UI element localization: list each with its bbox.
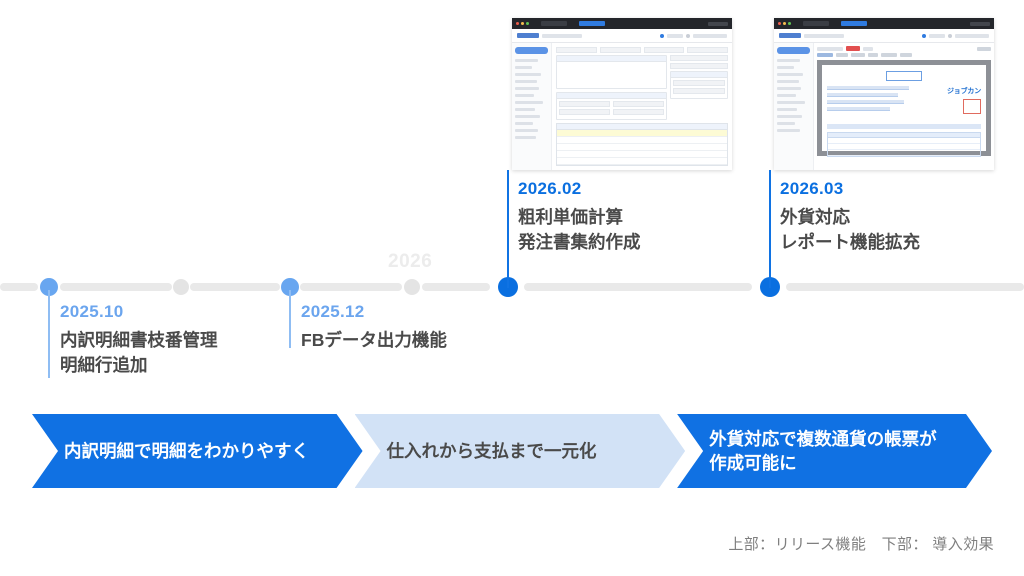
download-icon[interactable] <box>977 47 991 51</box>
form-field[interactable] <box>559 109 610 115</box>
browser-toolbar <box>708 22 728 26</box>
timeline-entry-date: 2026.03 <box>780 180 1020 199</box>
preview-area: ジョブカン <box>814 43 994 170</box>
line-items-table[interactable] <box>556 123 728 166</box>
table-row[interactable] <box>557 158 727 165</box>
benefit-chevron-2[interactable]: 仕入れから支払まで一元化 <box>355 414 686 488</box>
timeline-entry-title: 内訳明細書枝番管理 明細行追加 <box>60 328 310 378</box>
screenshot-order-entry-form[interactable] <box>512 18 732 170</box>
timeline-entry-2026-03[interactable]: 2026.03 外貨対応 レポート機能拡充 <box>780 180 1020 254</box>
footer-legend: 上部：リリース機能 下部： 導入効果 <box>728 533 994 554</box>
help-icon[interactable] <box>660 34 664 38</box>
benefit-label: 仕入れから支払まで一元化 <box>387 439 597 464</box>
preview-title <box>817 47 843 51</box>
axis-segment <box>60 283 172 291</box>
benefit-chevron-1[interactable]: 内訳明細で明細をわかりやすく <box>32 414 363 488</box>
axis-segment <box>524 283 752 291</box>
sidebar-item[interactable] <box>777 108 797 111</box>
browser-titlebar <box>774 18 994 29</box>
form-field[interactable] <box>687 47 728 53</box>
minimize-icon[interactable] <box>783 22 786 25</box>
timeline-entry-date: 2026.02 <box>518 180 758 199</box>
timeline-year-label: 2026 <box>388 251 432 273</box>
sidebar-item[interactable] <box>515 129 538 132</box>
preview-tab[interactable] <box>881 53 897 57</box>
form-toolbar <box>556 47 728 55</box>
sidebar-item[interactable] <box>777 129 800 132</box>
sidebar-item[interactable] <box>515 122 533 125</box>
axis-segment <box>0 283 38 291</box>
form-side-column <box>670 55 728 123</box>
preview-tab[interactable] <box>851 53 865 57</box>
summary-panel <box>670 71 728 99</box>
invoice-field <box>827 93 898 97</box>
sidebar-item[interactable] <box>777 94 796 97</box>
invoice-recipient-block <box>827 86 916 119</box>
panel-body <box>671 78 727 98</box>
table-row[interactable] <box>557 151 727 158</box>
table-row[interactable] <box>557 130 727 137</box>
sidebar-item[interactable] <box>777 80 799 83</box>
timeline-entry-title: 粗利単価計算 発注書集約作成 <box>518 205 758 255</box>
panel-body <box>557 99 666 119</box>
detail-panel <box>556 92 667 120</box>
benefit-label: 外貨対応で複数通貨の帳票が 作成可能に <box>709 427 937 476</box>
sidebar-item[interactable] <box>777 66 794 69</box>
status-badge <box>846 46 860 51</box>
sidebar-item[interactable] <box>777 122 795 125</box>
form-field[interactable] <box>670 63 728 69</box>
slide-canvas: 2026 2025.10 内訳明細書枝番管理 明細行追加 2025.12 FBデ… <box>0 0 1024 576</box>
form-field[interactable] <box>613 101 664 107</box>
invoice-header-columns: ジョブカン <box>827 86 981 119</box>
preview-tab[interactable] <box>900 53 912 57</box>
app-header <box>774 29 994 43</box>
maximize-icon[interactable] <box>788 22 791 25</box>
account-label <box>955 34 989 38</box>
stem-2026-02 <box>507 170 509 288</box>
sidebar-item[interactable] <box>515 73 541 76</box>
sidebar-item[interactable] <box>515 108 535 111</box>
sidebar-item[interactable] <box>515 80 537 83</box>
app-title-placeholder <box>804 34 844 38</box>
timeline-entry-2025-10[interactable]: 2025.10 内訳明細書枝番管理 明細行追加 <box>60 303 310 377</box>
app-header-actions <box>660 34 727 38</box>
form-field[interactable] <box>559 101 610 107</box>
app-header <box>512 29 732 43</box>
minimize-icon[interactable] <box>521 22 524 25</box>
sidebar-item[interactable] <box>777 115 802 118</box>
axis-segment <box>786 283 1024 291</box>
browser-tab-active[interactable] <box>841 21 867 26</box>
sidebar-item[interactable] <box>515 59 538 62</box>
form-field[interactable] <box>600 47 641 53</box>
sidebar-item[interactable] <box>515 94 534 97</box>
jobcan-logo-icon <box>779 33 801 38</box>
benefit-chevron-3[interactable]: 外貨対応で複数通貨の帳票が 作成可能に <box>677 414 992 488</box>
app-header-actions <box>922 34 989 38</box>
browser-titlebar <box>512 18 732 29</box>
sidebar-item[interactable] <box>515 66 532 69</box>
invoice-items-table <box>827 132 981 157</box>
timeline-entry-2025-12[interactable]: 2025.12 FBデータ出力機能 <box>301 303 531 353</box>
sidebar-primary-button[interactable] <box>777 47 810 54</box>
preview-meta <box>863 47 873 51</box>
preview-tab[interactable] <box>836 53 848 57</box>
invoice-field <box>827 107 890 111</box>
timeline-axis <box>0 283 1024 291</box>
document-stage: ジョブカン <box>817 60 991 156</box>
help-label <box>667 34 683 38</box>
preview-tab[interactable] <box>817 53 833 57</box>
preview-toolbar <box>817 46 991 51</box>
timeline-dot-idle-1 <box>173 279 189 295</box>
sidebar-primary-button[interactable] <box>515 47 548 54</box>
timeline-entry-title: 外貨対応 レポート機能拡充 <box>780 205 1020 255</box>
invoice-field <box>827 86 909 90</box>
jobcan-logo-text: ジョブカン <box>929 86 981 96</box>
gear-icon[interactable] <box>948 34 952 38</box>
table-row[interactable] <box>557 137 727 144</box>
axis-segment <box>190 283 280 291</box>
sidebar-item[interactable] <box>515 115 540 118</box>
form-area <box>552 43 732 170</box>
form-field[interactable] <box>556 47 597 53</box>
summary-value <box>673 80 725 86</box>
browser-tab[interactable] <box>803 21 829 26</box>
maximize-icon[interactable] <box>526 22 529 25</box>
panel-body[interactable] <box>557 62 666 88</box>
table-row <box>828 150 980 156</box>
form-field[interactable] <box>644 47 685 53</box>
app-sidebar[interactable] <box>512 43 552 170</box>
sidebar-item[interactable] <box>777 87 801 90</box>
sidebar-item[interactable] <box>515 101 543 104</box>
stem-2025-10 <box>48 290 50 378</box>
invoice-total-row <box>827 124 981 129</box>
timeline-entry-date: 2025.12 <box>301 303 531 322</box>
close-icon[interactable] <box>516 22 519 25</box>
browser-tab-active[interactable] <box>579 21 605 26</box>
summary-value <box>673 88 725 94</box>
form-field[interactable] <box>670 55 728 61</box>
invoice-issuer-block: ジョブカン <box>929 86 981 119</box>
sidebar-item[interactable] <box>777 101 805 104</box>
app-title-placeholder <box>542 34 582 38</box>
timeline-entry-title: FBデータ出力機能 <box>301 328 531 353</box>
jobcan-logo-icon <box>517 33 539 38</box>
stem-2026-03 <box>769 170 771 288</box>
benefits-band: 内訳明細で明細をわかりやすく 仕入れから支払まで一元化 外貨対応で複数通貨の帳票… <box>32 414 992 488</box>
notes-panel <box>556 55 667 89</box>
invoice-field <box>827 100 904 104</box>
axis-segment <box>422 283 490 291</box>
screenshot-invoice-preview[interactable]: ジョブカン <box>774 18 994 170</box>
help-icon[interactable] <box>922 34 926 38</box>
benefit-label: 内訳明細で明細をわかりやすく <box>64 439 309 464</box>
form-columns <box>556 55 728 123</box>
help-label <box>929 34 945 38</box>
app-sidebar[interactable] <box>774 43 814 170</box>
browser-toolbar <box>970 22 990 26</box>
timeline-entry-2026-02[interactable]: 2026.02 粗利単価計算 発注書集約作成 <box>518 180 758 254</box>
company-seal-icon <box>963 99 981 114</box>
browser-tab[interactable] <box>541 21 567 26</box>
form-field[interactable] <box>613 109 664 115</box>
sidebar-item[interactable] <box>777 59 800 62</box>
sidebar-item[interactable] <box>777 73 803 76</box>
app-body: ジョブカン <box>774 43 994 170</box>
app-body <box>512 43 732 170</box>
sidebar-item[interactable] <box>515 136 536 139</box>
sidebar-item[interactable] <box>515 87 539 90</box>
close-icon[interactable] <box>778 22 781 25</box>
invoice-page: ジョブカン <box>822 65 986 151</box>
timeline-dot-idle-2 <box>404 279 420 295</box>
invoice-heading <box>886 71 922 81</box>
account-label <box>693 34 727 38</box>
preview-tabs[interactable] <box>817 53 991 57</box>
form-main-column <box>556 55 667 123</box>
timeline-entry-date: 2025.10 <box>60 303 310 322</box>
gear-icon[interactable] <box>686 34 690 38</box>
table-row[interactable] <box>557 144 727 151</box>
axis-segment <box>300 283 402 291</box>
preview-tab[interactable] <box>868 53 878 57</box>
